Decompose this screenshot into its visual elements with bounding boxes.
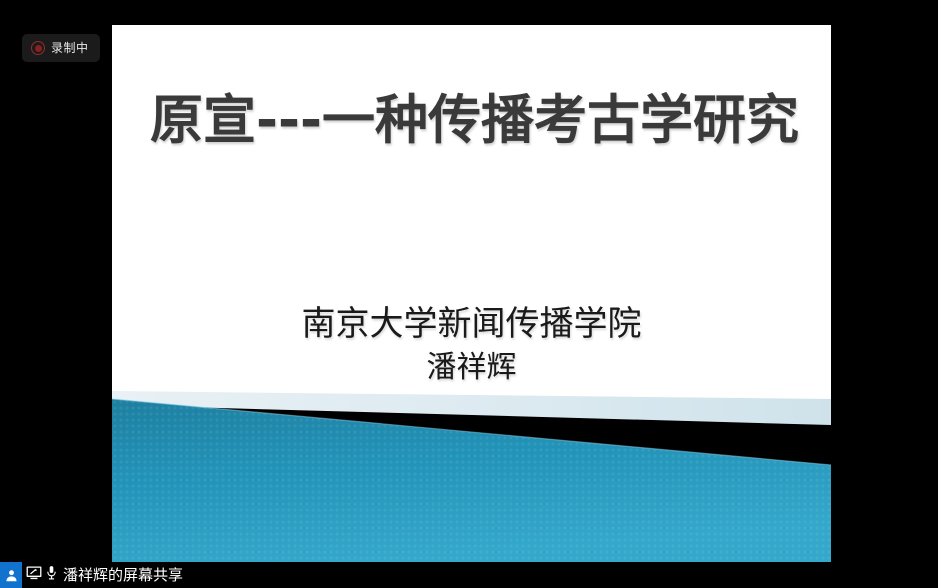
microphone-icon[interactable]: [46, 565, 57, 585]
slide-decoration: [112, 387, 831, 562]
status-icon-group: [26, 565, 57, 585]
person-icon[interactable]: [0, 562, 22, 588]
recording-label: 录制中: [51, 42, 89, 54]
meeting-screen-share-view: 录制中 原宣---一种传播考古学研究 南京大学新闻传播学院 潘祥辉 2020.1…: [0, 0, 938, 588]
record-dot-inner: [35, 45, 42, 52]
recording-badge: 录制中: [22, 34, 100, 62]
screen-share-label: 潘祥辉的屏幕共享: [63, 568, 183, 583]
slide-presenter: 潘祥辉: [112, 348, 831, 387]
slide-title: 原宣---一种传播考古学研究: [150, 83, 810, 158]
slide-organization: 南京大学新闻传播学院: [112, 303, 831, 346]
screen-share-icon[interactable]: [26, 566, 42, 585]
record-dot-icon: [31, 41, 45, 55]
bottom-status-bar: 潘祥辉的屏幕共享: [0, 562, 938, 588]
shared-slide: 原宣---一种传播考古学研究 南京大学新闻传播学院 潘祥辉 2020.11.13: [112, 25, 831, 562]
